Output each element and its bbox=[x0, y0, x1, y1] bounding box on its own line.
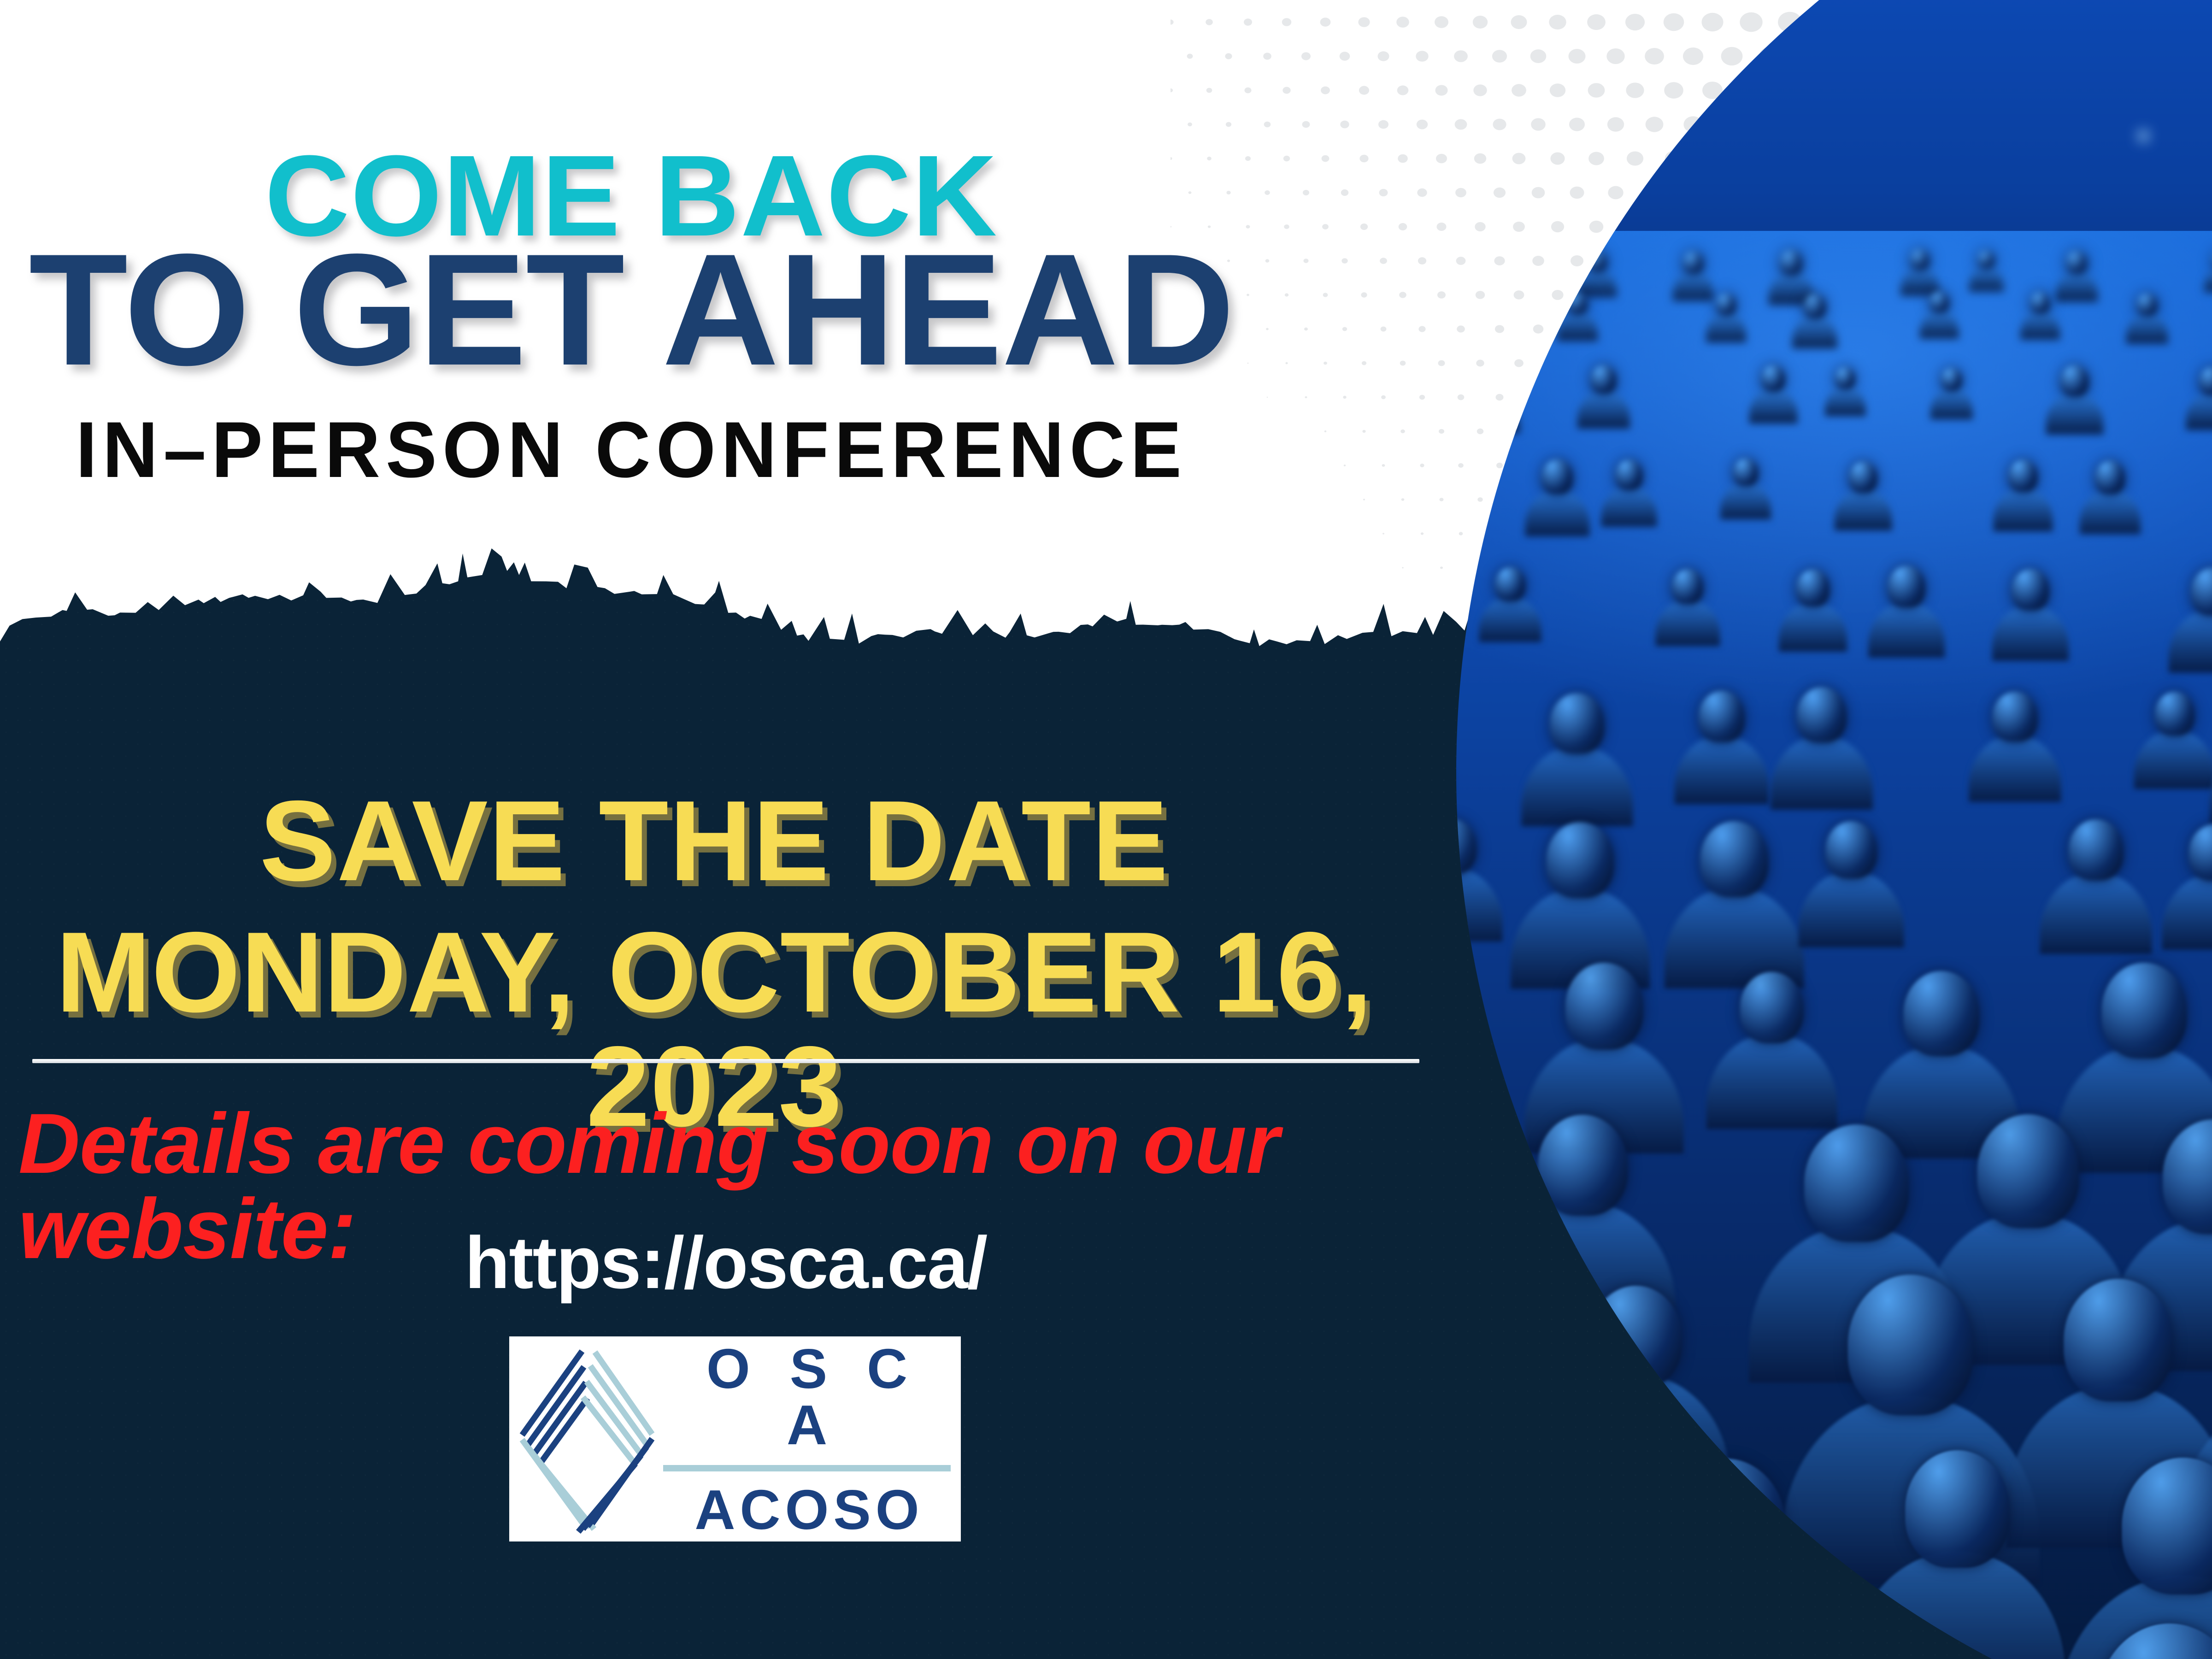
audience-head bbox=[1835, 367, 1855, 389]
conference-crowd-photo bbox=[1456, 0, 2212, 1659]
headline-subtitle-in-person-conference: IN–PERSON CONFERENCE bbox=[19, 410, 1244, 489]
audience-head bbox=[1905, 1450, 2010, 1568]
audience-head bbox=[1492, 252, 1513, 276]
audience-head bbox=[1993, 692, 2037, 742]
audience-head bbox=[1591, 365, 1617, 394]
logo-divider-rule bbox=[663, 1465, 951, 1471]
audience-head bbox=[1716, 294, 1736, 316]
audience-head bbox=[1615, 460, 1642, 490]
audience-head bbox=[1910, 249, 1929, 271]
audience-head bbox=[2069, 819, 2124, 881]
audience-head bbox=[1665, 1459, 1786, 1593]
audience-head bbox=[1977, 1114, 2079, 1229]
audience-head bbox=[1588, 251, 1607, 272]
audience-head bbox=[1456, 294, 1477, 321]
audience-head bbox=[2060, 365, 2088, 397]
audience-head bbox=[1978, 251, 1994, 270]
audience-head bbox=[2008, 460, 2037, 493]
audience-head bbox=[1590, 1286, 1682, 1388]
audience-head bbox=[1672, 569, 1703, 604]
stage-bokeh-light bbox=[2138, 130, 2149, 141]
audience-head bbox=[1740, 972, 1804, 1043]
audience-head bbox=[1804, 294, 1826, 319]
audience-head bbox=[1888, 566, 1925, 608]
audience-head bbox=[1479, 367, 1506, 397]
osca-acoso-logo[interactable]: O S C A ACOSO bbox=[509, 1336, 961, 1541]
audience-head bbox=[1495, 567, 1525, 601]
audience-head bbox=[2066, 251, 2087, 274]
audience-head bbox=[1930, 292, 1949, 313]
audience-head bbox=[1547, 822, 1614, 898]
audience-head bbox=[2064, 1279, 2173, 1401]
audience-head bbox=[1565, 963, 1643, 1050]
audience-head bbox=[2031, 292, 2050, 314]
save-the-date-heading: SAVE THE DATE bbox=[0, 783, 1429, 898]
audience-head bbox=[1849, 462, 1877, 493]
audience-head bbox=[1538, 1115, 1628, 1216]
audience-head bbox=[1568, 293, 1588, 315]
logo-acoso-text: ACOSO bbox=[661, 1482, 953, 1538]
horizontal-divider bbox=[32, 1059, 1419, 1063]
audience-head bbox=[1541, 459, 1573, 494]
audience-head bbox=[1700, 821, 1768, 897]
audience-head bbox=[1683, 252, 1703, 274]
audience-head bbox=[2102, 963, 2187, 1058]
audience-head bbox=[1796, 570, 1829, 607]
audience-head bbox=[1826, 821, 1877, 879]
audience-head bbox=[1804, 1124, 1909, 1242]
audience-head bbox=[1734, 459, 1759, 486]
audience-head bbox=[1941, 368, 1962, 391]
audience-head bbox=[1780, 250, 1802, 275]
website-url-link[interactable]: https://osca.ca/ bbox=[0, 1226, 1452, 1300]
headline-to-get-ahead: TO GET AHEAD bbox=[0, 230, 1275, 389]
audience-head bbox=[1847, 1275, 1973, 1415]
osca-diamond-icon bbox=[509, 1336, 661, 1541]
audience-head bbox=[2137, 294, 2157, 317]
audience-head bbox=[1797, 687, 1847, 743]
audience-head bbox=[2012, 569, 2049, 611]
audience-head bbox=[1550, 693, 1605, 754]
logo-osca-text: O S C A bbox=[661, 1341, 953, 1453]
audience-head bbox=[1903, 971, 1980, 1056]
osca-logo-wordmark: O S C A ACOSO bbox=[661, 1336, 961, 1541]
poster-canvas: COME BACK TO GET AHEAD IN–PERSON CONFERE… bbox=[0, 0, 2212, 1659]
audience-head bbox=[1762, 365, 1785, 392]
audience-head bbox=[2095, 461, 2125, 494]
audience-head bbox=[1699, 691, 1745, 742]
audience-head bbox=[2155, 692, 2194, 736]
